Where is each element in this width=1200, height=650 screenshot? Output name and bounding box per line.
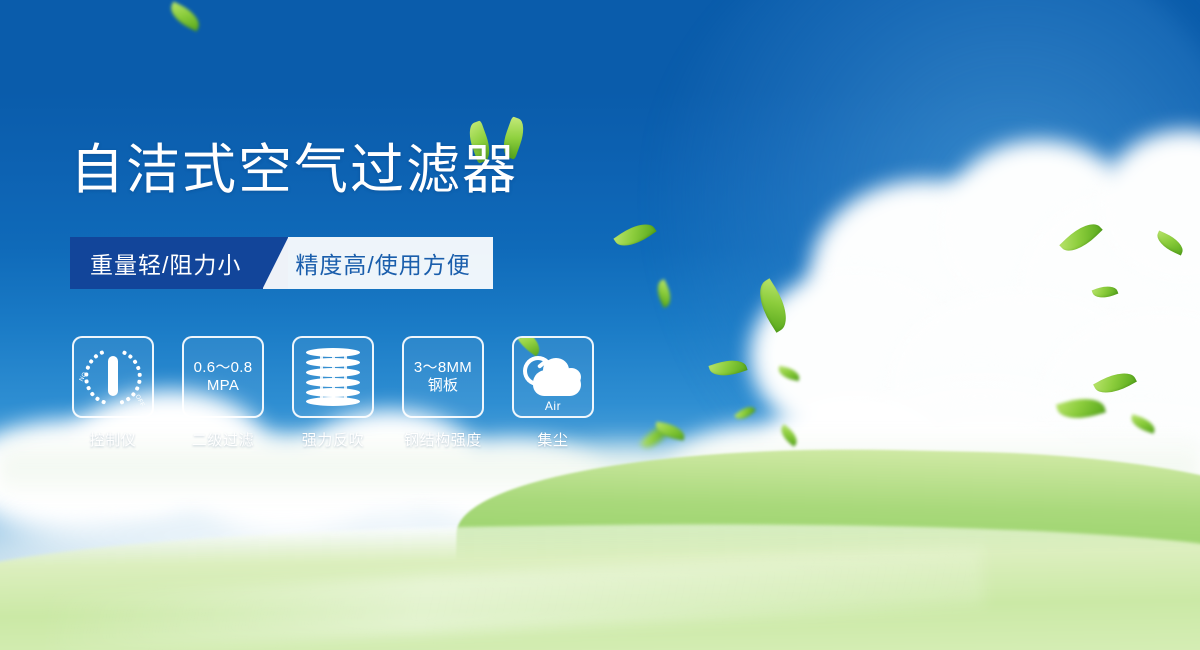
feature-item-steel[interactable]: 3～8MM 钢板 钢结构强度: [402, 336, 484, 450]
feature-icon-box: [292, 336, 374, 418]
dial-needle: [108, 356, 118, 396]
feature-item-control-dial[interactable]: NO OFF 控制仪: [72, 336, 154, 450]
feature-item-pressure[interactable]: 0.6～0.8 MPA 二级过滤: [182, 336, 264, 450]
pressure-line-2: MPA: [194, 377, 253, 395]
product-banner: 自洁式空气过滤器 重量轻/阻力小 精度高/使用方便: [0, 0, 1200, 650]
control-dial-icon: NO OFF: [81, 345, 145, 409]
steel-line-1: 3～8MM: [414, 359, 472, 377]
pressure-line-1: 0.6～0.8: [194, 359, 253, 377]
feature-list: NO OFF 控制仪 0.6～0.8 MPA 二级过滤: [72, 336, 594, 450]
page-title: 自洁式空气过滤器: [70, 142, 518, 199]
air-cloud-icon: Air: [523, 354, 583, 400]
subtitle-right-text: 精度高/使用方便: [287, 237, 492, 289]
feature-caption: 钢结构强度: [404, 429, 482, 450]
subtitle-divider: [262, 237, 288, 289]
subtitle-left-text: 重量轻/阻力小: [70, 237, 263, 289]
air-label: Air: [523, 399, 583, 413]
feature-icon-box: NO OFF: [72, 336, 154, 418]
feature-icon-box: 0.6～0.8 MPA: [182, 336, 264, 418]
feature-icon-box: Air: [512, 336, 594, 418]
feature-caption: 二级过滤: [192, 429, 254, 450]
pressure-text-icon: 0.6～0.8 MPA: [194, 359, 253, 396]
feature-item-dust[interactable]: Air 集尘: [512, 336, 594, 450]
steel-plate-text-icon: 3～8MM 钢板: [414, 359, 472, 396]
subtitle-bar: 重量轻/阻力小 精度高/使用方便: [70, 237, 493, 289]
feature-caption: 强力反吹: [302, 429, 364, 450]
dial-label-off: OFF: [134, 394, 145, 408]
feature-item-backblow[interactable]: 强力反吹: [292, 336, 374, 450]
feature-icon-box: 3～8MM 钢板: [402, 336, 484, 418]
steel-line-2: 钢板: [414, 377, 472, 395]
feature-caption: 控制仪: [90, 429, 137, 450]
feature-caption: 集尘: [537, 429, 568, 450]
filter-stack-icon: [306, 348, 360, 406]
